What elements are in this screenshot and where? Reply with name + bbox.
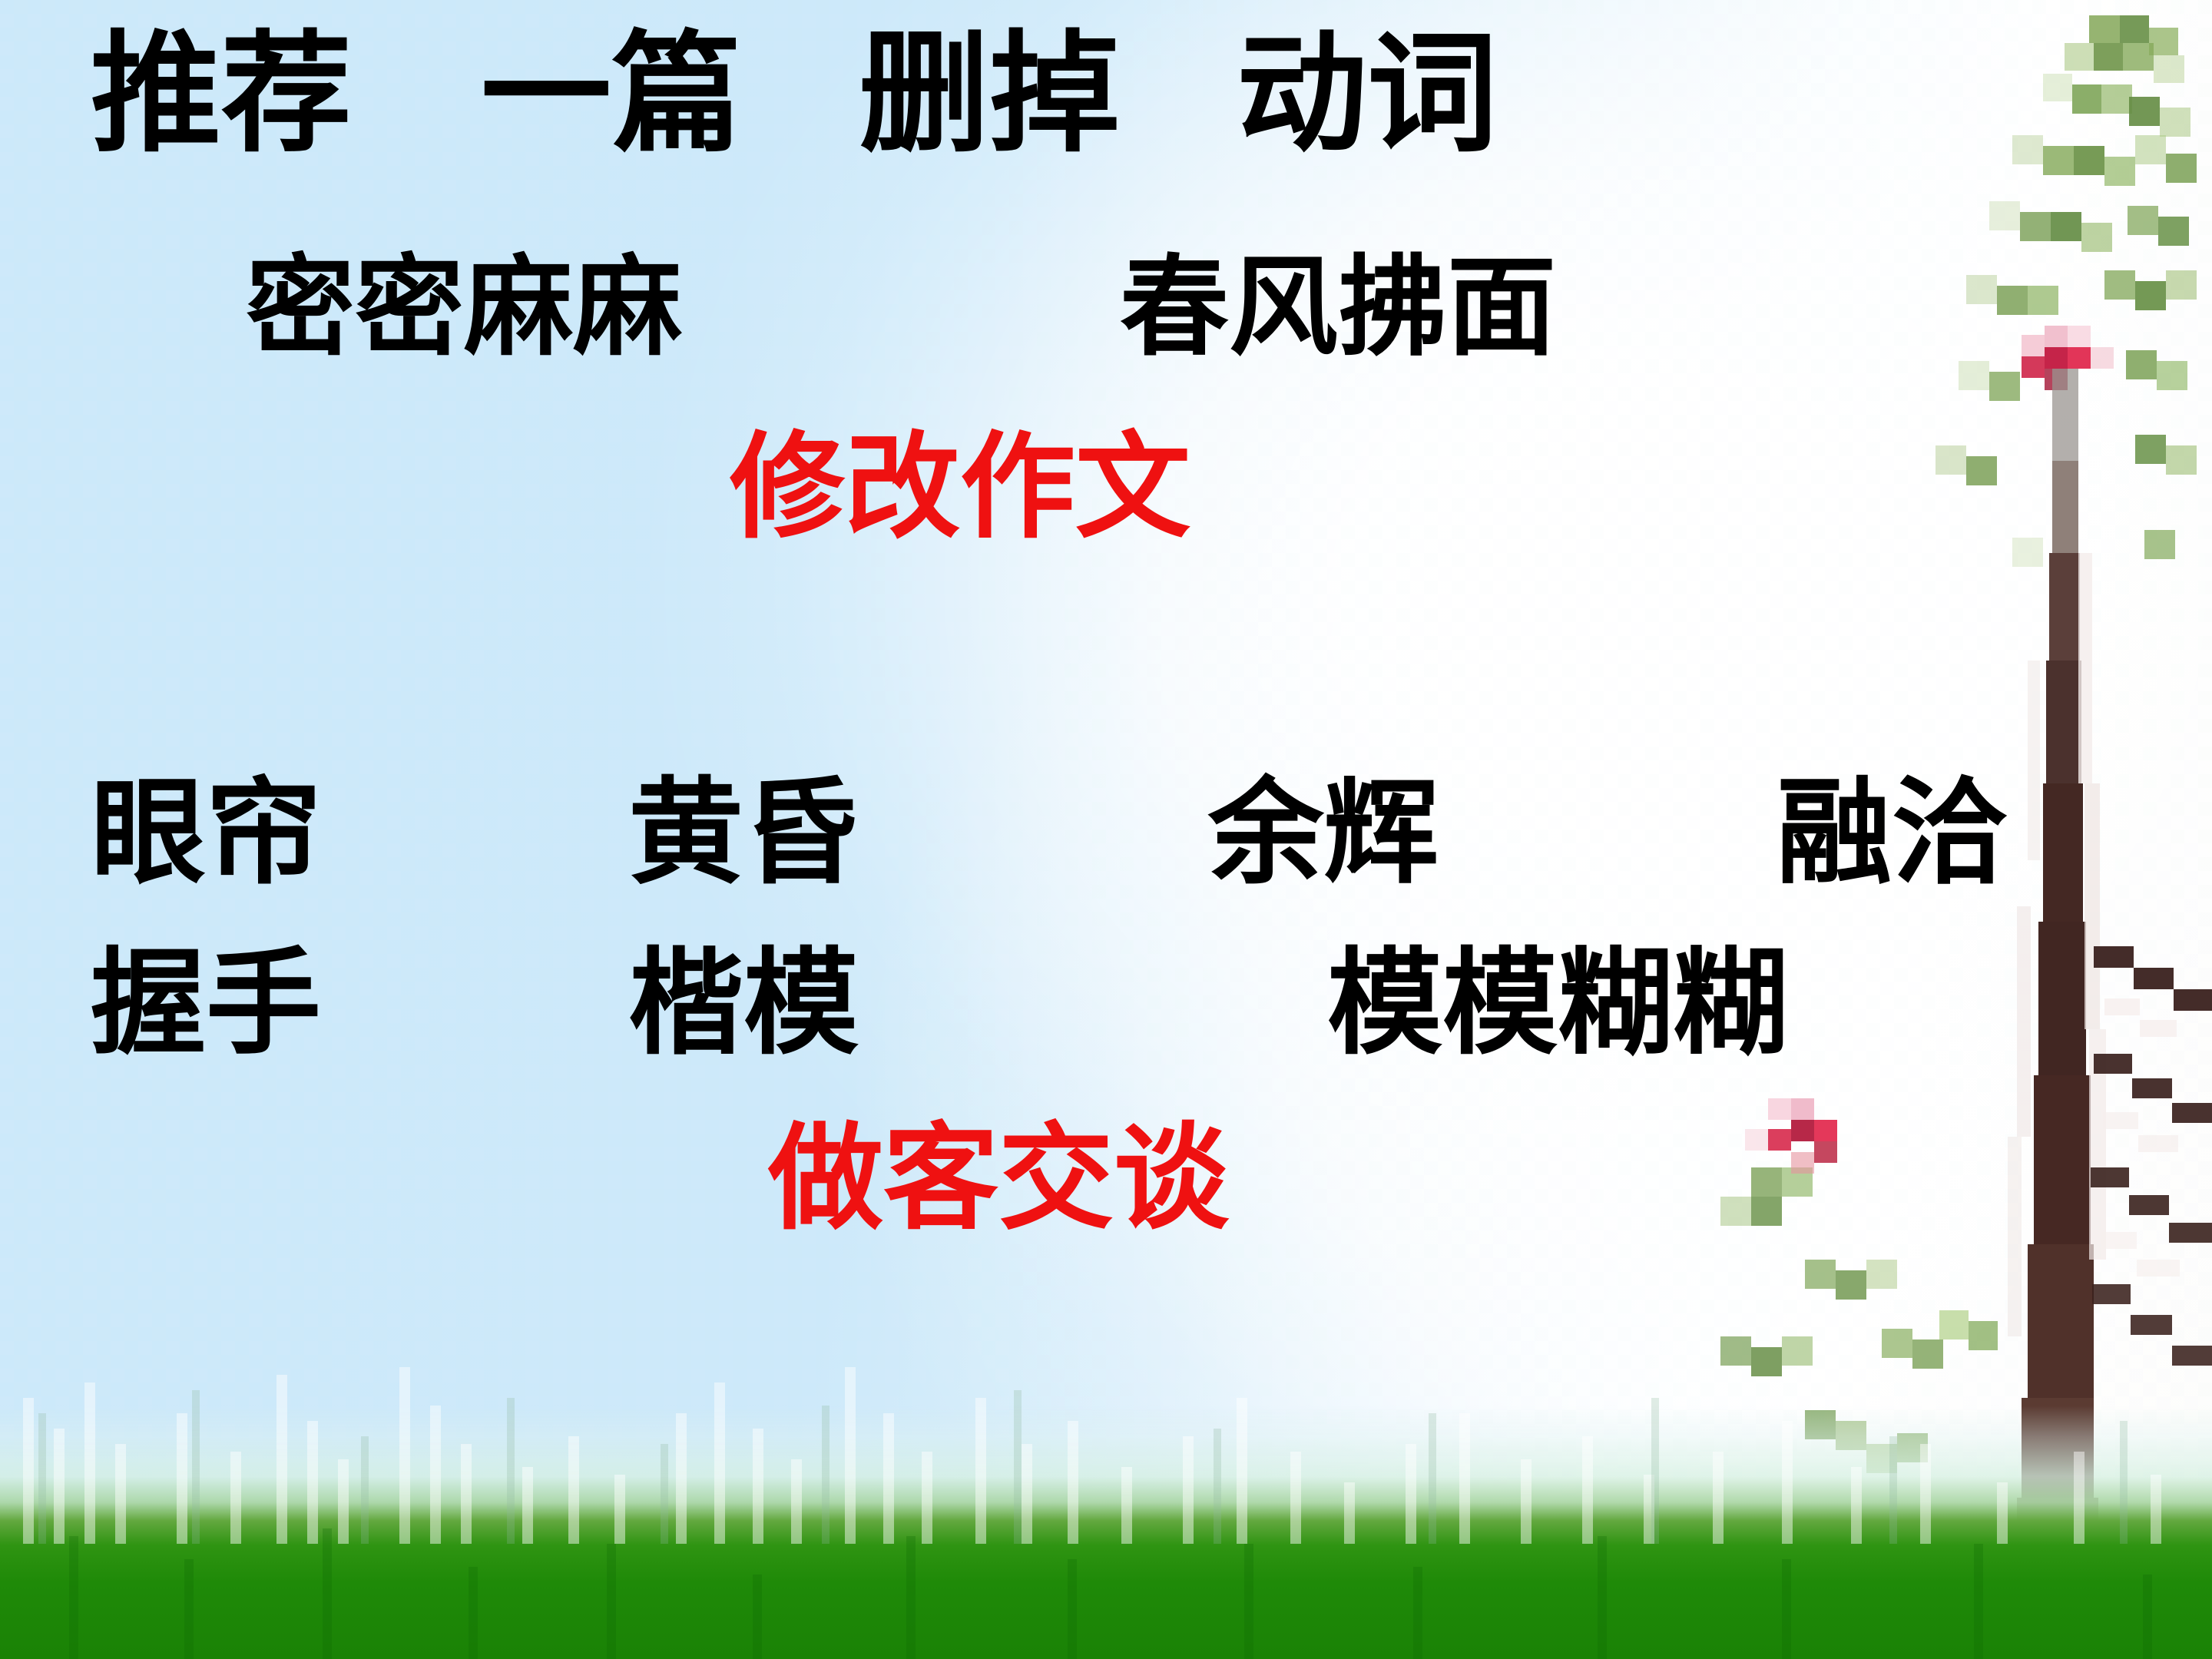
word-rongqia: 融洽 bbox=[1777, 776, 2007, 891]
word-xiugaizuowen: 修改作文 bbox=[730, 430, 1190, 545]
word-woshou: 握手 bbox=[91, 946, 321, 1061]
word-yanlian: 眼帘 bbox=[91, 776, 321, 891]
tree-leaves bbox=[1720, 15, 2197, 1473]
word-row-1: 推荐一篇删掉动词 bbox=[91, 29, 1498, 160]
word-yipian: 一篇 bbox=[481, 29, 742, 160]
word-momohuhu: 模模糊糊 bbox=[1327, 946, 1788, 1061]
word-row-3-highlight: 修改作文 bbox=[730, 430, 1190, 545]
word-dongci: 动词 bbox=[1237, 29, 1498, 160]
word-row-5: 握手楷模模模糊糊 bbox=[91, 946, 1788, 1061]
word-tuijian: 推荐 bbox=[91, 29, 352, 160]
word-chunfengfumian: 春风拂面 bbox=[1120, 253, 1556, 363]
word-row-4: 眼帘黄昏余辉融洽 bbox=[91, 776, 2007, 891]
word-row-6-highlight: 做客交谈 bbox=[768, 1121, 1229, 1237]
grass-blade-shadows bbox=[0, 1513, 2212, 1659]
word-mimimama: 密密麻麻 bbox=[246, 253, 682, 363]
word-shandiao: 删掉 bbox=[859, 29, 1120, 160]
word-huanghun: 黄昏 bbox=[628, 776, 859, 891]
word-row-2: 密密麻麻春风拂面 bbox=[246, 253, 1556, 363]
word-zuokejiaotan: 做客交谈 bbox=[768, 1121, 1229, 1237]
word-kaimo: 楷模 bbox=[628, 946, 859, 1061]
slide-canvas: 推荐一篇删掉动词 密密麻麻春风拂面 修改作文 眼帘黄昏余辉融洽 握手楷模模模糊糊… bbox=[0, 0, 2212, 1659]
word-yuhui: 余辉 bbox=[1208, 776, 1439, 891]
